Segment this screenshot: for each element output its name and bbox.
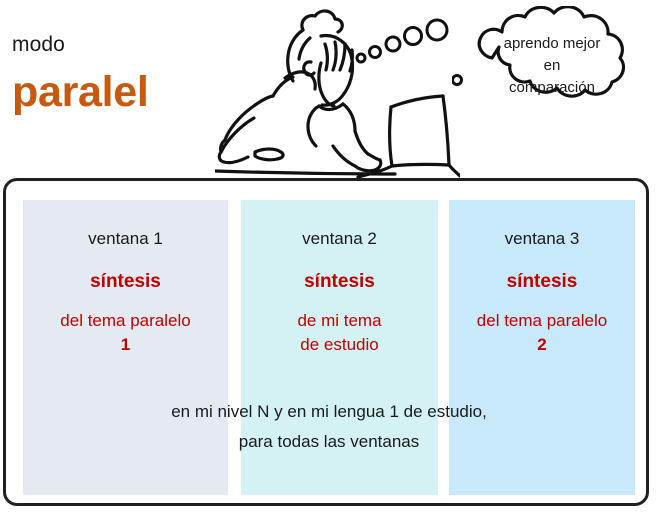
window-2-heading: síntesis (241, 271, 438, 293)
window-3-title: ventana 3 (449, 229, 635, 249)
thought-bubble-text: aprendo mejor en comparación (463, 33, 641, 99)
window-3-description: del tema paralelo 2 (449, 309, 635, 357)
mode-name-title: paralel (12, 70, 149, 115)
window-3-heading: síntesis (449, 271, 635, 293)
thought-line-1: aprendo mejor (504, 35, 601, 52)
window-2-desc-line-2: de estudio (300, 335, 378, 354)
window-2-desc-line-1: de mi tema (297, 311, 381, 330)
window-column-2[interactable]: ventana 2 síntesis de mi tema de estudio (241, 200, 438, 495)
windows-panel: ventana 1 síntesis del tema paralelo 1 v… (3, 178, 649, 506)
window-2-description: de mi tema de estudio (241, 309, 438, 357)
window-2-title: ventana 2 (241, 229, 438, 249)
window-1-desc-line-2: 1 (23, 333, 228, 357)
thought-line-3: comparación (509, 79, 595, 96)
window-1-title: ventana 1 (23, 229, 228, 249)
window-column-1[interactable]: ventana 1 síntesis del tema paralelo 1 (23, 200, 228, 495)
windows-columns: ventana 1 síntesis del tema paralelo 1 v… (23, 200, 635, 495)
window-1-heading: síntesis (23, 271, 228, 293)
window-column-3[interactable]: ventana 3 síntesis del tema paralelo 2 (449, 200, 635, 495)
window-3-desc-line-2: 2 (449, 333, 635, 357)
window-1-desc-line-1: del tema paralelo (60, 311, 190, 330)
header-area: modo paralel (0, 0, 657, 178)
window-3-desc-line-1: del tema paralelo (477, 311, 607, 330)
window-1-description: del tema paralelo 1 (23, 309, 228, 357)
thought-line-2: en (544, 57, 561, 74)
thought-trail-dots (355, 12, 465, 67)
mode-label: modo (12, 34, 65, 55)
